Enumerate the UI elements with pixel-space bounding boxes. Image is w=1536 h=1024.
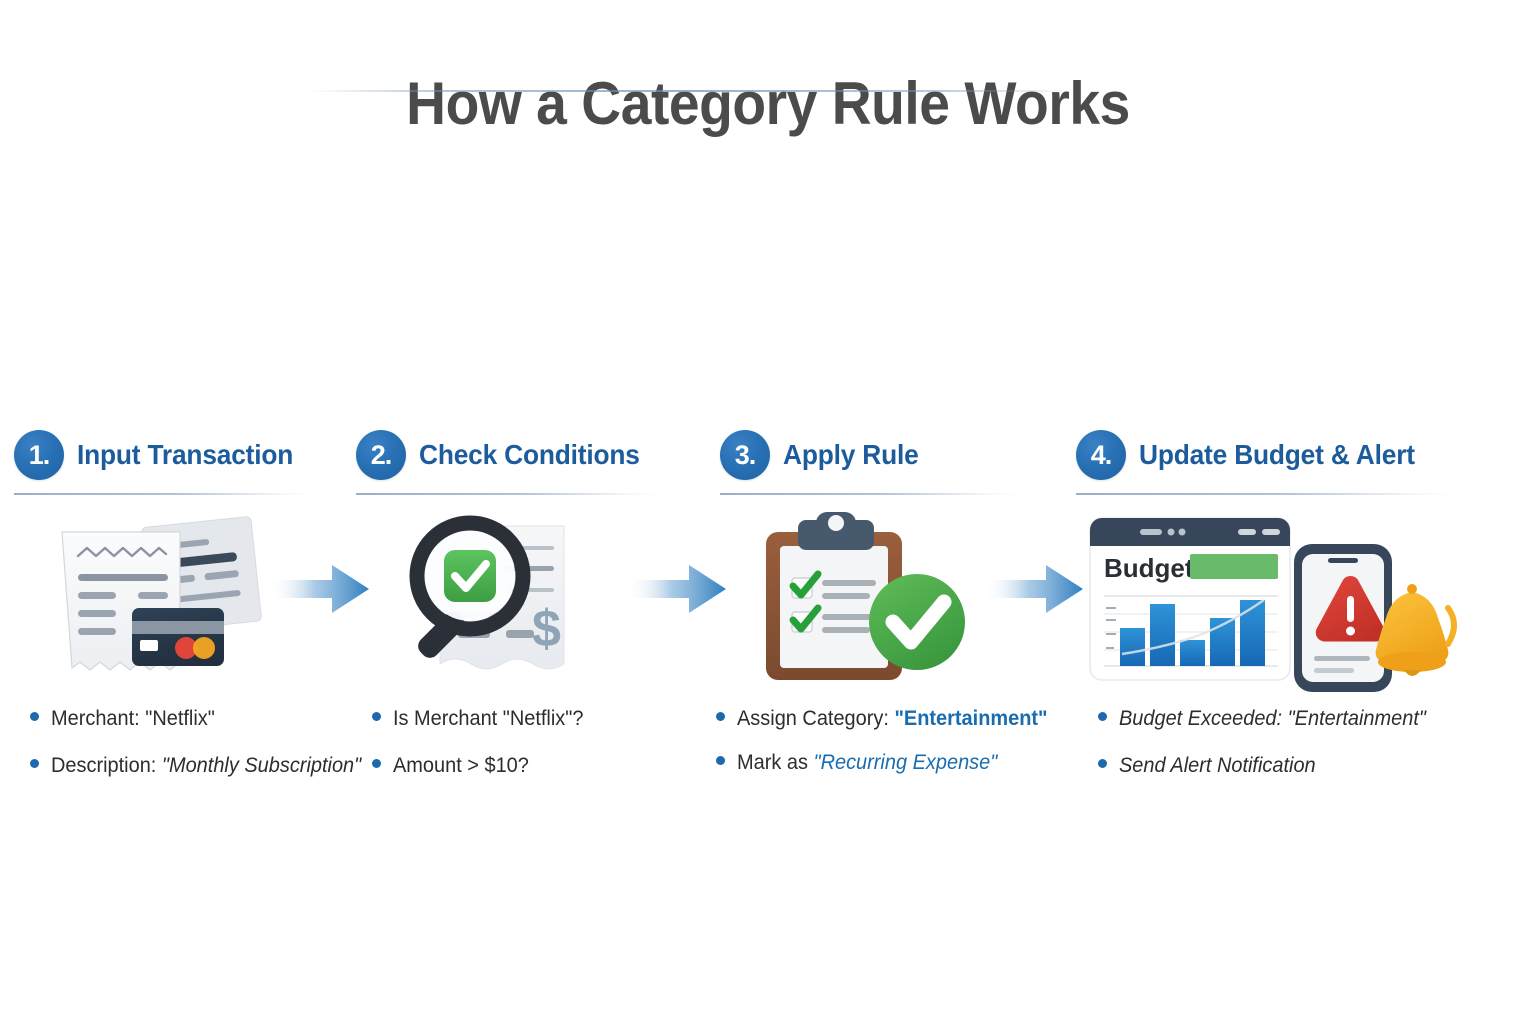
step-3-apply-rule: 3. Apply Rule <box>720 428 1040 495</box>
step-2-header: 2. Check Conditions <box>356 428 676 482</box>
receipt-credit-card-icon <box>40 504 290 694</box>
arrow-step3-to-step4 <box>982 556 1087 622</box>
bullet-label: Assign Category: <box>737 707 894 730</box>
list-item: Merchant: "Netflix" <box>30 706 370 732</box>
list-item: Description: "Monthly Subscription" <box>30 753 370 779</box>
step-2-number-badge: 2. <box>356 430 406 480</box>
step-3-title: Apply Rule <box>783 439 919 471</box>
step-4-bullet-list: Budget Exceeded: "Entertainment" Send Al… <box>1098 706 1488 801</box>
bullet-value: "Netflix" <box>145 707 215 730</box>
step-4-header: 4. Update Budget & Alert <box>1076 428 1466 482</box>
page-title: How a Category Rule Works <box>61 72 1474 135</box>
step-2-bullet-list: Is Merchant "Netflix"? Amount > $10? <box>372 706 702 801</box>
step-4-update-budget-alert: 4. Update Budget & Alert <box>1076 428 1466 495</box>
page-header: How a Category Rule Works <box>0 72 1536 135</box>
arrow-step2-to-step3 <box>625 556 730 622</box>
bullet-dot-icon <box>1098 759 1107 768</box>
step-4-divider <box>1076 493 1456 495</box>
list-item: Budget Exceeded: "Entertainment" <box>1098 706 1488 732</box>
bullet-label: Send Alert Notification <box>1119 753 1316 779</box>
step-3-number-badge: 3. <box>720 430 770 480</box>
step-3-divider <box>720 493 1020 495</box>
arrow-step1-to-step2 <box>268 556 373 622</box>
bullet-dot-icon <box>372 712 381 721</box>
bullet-label: Mark as <box>737 751 813 774</box>
bullet-label: Description: <box>51 754 162 777</box>
budget-window-title: Budget <box>1104 553 1194 583</box>
magnifying-glass-check-icon: $ <box>382 504 614 694</box>
bullet-label: Merchant: <box>51 707 145 730</box>
step-1-header: 1. Input Transaction <box>14 428 334 482</box>
list-item: Is Merchant "Netflix"? <box>372 706 702 732</box>
step-2-title: Check Conditions <box>419 439 640 471</box>
step-1-input-transaction: 1. Input Transaction <box>14 428 334 495</box>
step-3-bullet-list: Assign Category: "Entertainment" Mark as… <box>716 706 1086 795</box>
step-4-number-badge: 4. <box>1076 430 1126 480</box>
budget-progress-bar <box>1190 554 1278 579</box>
chart-bar <box>1150 604 1175 666</box>
list-item: Send Alert Notification <box>1098 753 1488 779</box>
bullet-dot-icon <box>372 759 381 768</box>
bullet-value: "Monthly Subscription" <box>162 754 361 777</box>
step-1-divider <box>14 493 314 495</box>
bullet-label: Is Merchant "Netflix"? <box>393 706 583 732</box>
title-divider <box>310 90 1075 92</box>
step-3-header: 3. Apply Rule <box>720 428 1040 482</box>
bullet-dot-icon <box>30 759 39 768</box>
clipboard-checkmark-icon <box>742 504 982 694</box>
bullet-label: Amount > $10? <box>393 753 529 779</box>
bullet-dot-icon <box>716 712 725 721</box>
step-1-bullet-list: Merchant: "Netflix" Description: "Monthl… <box>30 706 370 801</box>
bullet-dot-icon <box>716 756 725 765</box>
budget-dashboard-alert-icon: Budget <box>1082 504 1457 694</box>
chart-bar <box>1120 628 1145 666</box>
list-item: Amount > $10? <box>372 753 702 779</box>
bullet-label: Budget Exceeded: "Entertainment" <box>1119 706 1426 732</box>
step-2-divider <box>356 493 661 495</box>
list-item: Mark as "Recurring Expense" <box>716 750 1086 776</box>
step-2-check-conditions: 2. Check Conditions <box>356 428 676 495</box>
step-1-number-badge: 1. <box>14 430 64 480</box>
step-4-title: Update Budget & Alert <box>1139 439 1415 471</box>
bullet-dot-icon <box>1098 712 1107 721</box>
bullet-value: "Recurring Expense" <box>813 751 997 774</box>
chart-bar <box>1180 640 1205 666</box>
chart-bar <box>1240 600 1265 666</box>
list-item: Assign Category: "Entertainment" <box>716 706 1086 732</box>
bullet-dot-icon <box>30 712 39 721</box>
svg-text:$: $ <box>532 600 561 658</box>
step-1-title: Input Transaction <box>77 439 293 471</box>
bullet-value: "Entertainment" <box>894 707 1047 730</box>
